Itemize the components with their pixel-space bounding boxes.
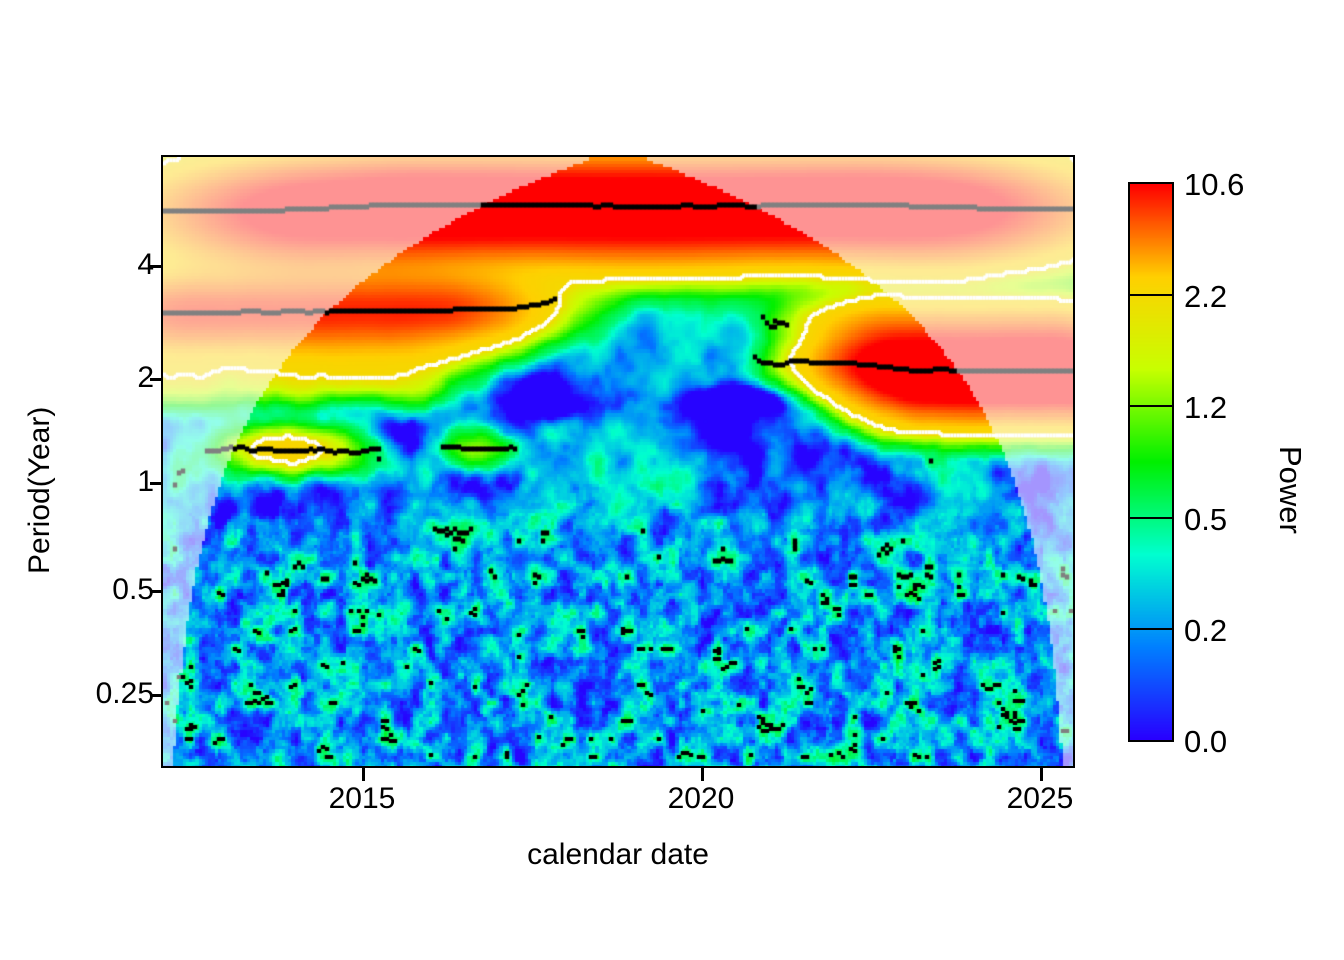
wavelet-heatmap-canvas xyxy=(163,157,1073,766)
colorbar-divider-0.2 xyxy=(1128,628,1174,630)
x-tick-label-2025: 2025 xyxy=(980,782,1100,816)
colorbar-label-1.2: 1.2 xyxy=(1184,392,1227,423)
colorbar-gradient xyxy=(1128,182,1174,742)
x-axis-title: calendar date xyxy=(161,838,1075,872)
colorbar-label-0.0: 0.0 xyxy=(1184,726,1227,757)
colorbar-divider-0.5 xyxy=(1128,517,1174,519)
x-tick-label-2015: 2015 xyxy=(302,782,422,816)
colorbar-divider-2.2 xyxy=(1128,294,1174,296)
y-tick-label-0.5: 0.5 xyxy=(112,575,154,605)
x-tick-2025 xyxy=(1040,768,1043,781)
y-tick-label-4: 4 xyxy=(137,250,154,280)
colorbar-label-10.6: 10.6 xyxy=(1184,169,1244,200)
y-axis-title: Period(Year) xyxy=(18,380,62,600)
colorbar xyxy=(1128,182,1174,742)
x-tick-2015 xyxy=(362,768,365,781)
colorbar-label-0.5: 0.5 xyxy=(1184,504,1227,535)
colorbar-label-2.2: 2.2 xyxy=(1184,281,1227,312)
y-tick-label-2: 2 xyxy=(137,363,154,393)
y-tick-label-0.25: 0.25 xyxy=(96,679,154,709)
colorbar-title: Power xyxy=(1268,400,1312,580)
colorbar-divider-1.2 xyxy=(1128,405,1174,407)
y-tick-label-1: 1 xyxy=(137,467,154,497)
wavelet-power-spectrum-figure: 4 2 1 0.5 0.25 2015 2020 2025 Period(Yea… xyxy=(0,0,1344,960)
x-tick-label-2020: 2020 xyxy=(641,782,761,816)
x-tick-2020 xyxy=(701,768,704,781)
plot-panel xyxy=(161,155,1075,768)
colorbar-label-0.2: 0.2 xyxy=(1184,615,1227,646)
